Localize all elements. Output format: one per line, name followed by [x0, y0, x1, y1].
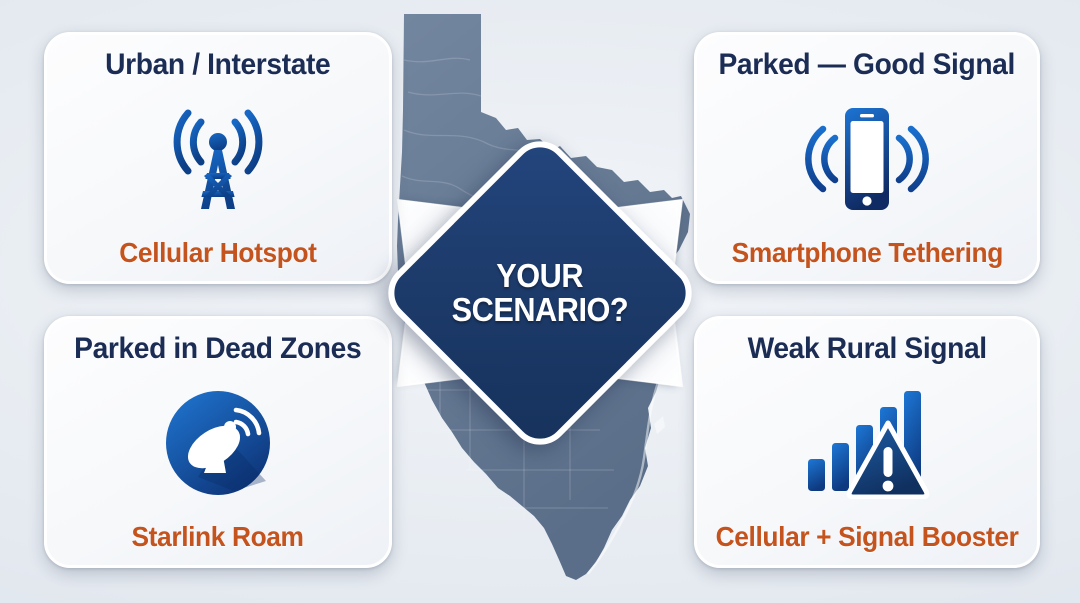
card-solution-urban-interstate: Cellular Hotspot: [119, 238, 316, 267]
card-title-parked-good-signal: Parked — Good Signal: [719, 49, 1015, 81]
card-solution-weak-rural-signal: Cellular + Signal Booster: [716, 522, 1019, 551]
your-scenario-diamond: [376, 129, 704, 457]
card-weak-rural-signal[interactable]: Weak Rural Signal: [694, 316, 1040, 568]
card-solution-parked-dead-zones: Starlink Roam: [132, 522, 304, 551]
card-parked-dead-zones[interactable]: Parked in Dead Zones: [44, 316, 392, 568]
card-solution-parked-good-signal: Smartphone Tethering: [731, 238, 1002, 267]
satellite-dish-icon: [164, 365, 272, 522]
signal-bars-warning-icon: [802, 365, 932, 522]
center-diamond-wrap[interactable]: YOUR SCENARIO?: [424, 177, 656, 409]
cell-tower-icon: [159, 81, 277, 238]
smartphone-signal-icon: [797, 81, 937, 238]
card-title-weak-rural-signal: Weak Rural Signal: [747, 333, 986, 365]
card-parked-good-signal[interactable]: Parked — Good Signal: [694, 32, 1040, 284]
card-title-parked-dead-zones: Parked in Dead Zones: [74, 333, 361, 365]
infographic-stage: Urban / Interstate: [0, 0, 1080, 603]
card-urban-interstate[interactable]: Urban / Interstate: [44, 32, 392, 284]
card-title-urban-interstate: Urban / Interstate: [105, 49, 330, 81]
